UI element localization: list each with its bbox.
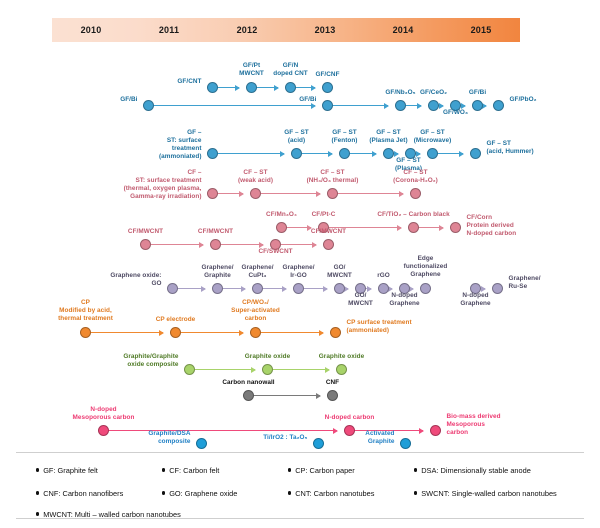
node-label: Graphite oxide [245, 353, 290, 361]
connector-arrow [190, 369, 255, 370]
node-label: GF/PtMWCNT [239, 62, 264, 78]
year-label-2015: 2015 [442, 18, 520, 42]
legend-item-label: CF: Carbon felt [169, 466, 219, 475]
legend-item-label: DSA: Dimensionally stable anode [421, 466, 531, 475]
node-label: Bio-mass derivedMesoporouscarbon [447, 413, 501, 437]
node-label: N-dopedMesoporous carbon [73, 406, 135, 422]
legend-item-cnt: CNT: Carbon nanotubes [288, 489, 374, 498]
timeline-figure: 2010 2011 2012 2013 2014 2015 GF/CNTGF/P… [0, 0, 600, 528]
timeline-node[interactable] [210, 239, 221, 250]
node-label: Carbon nanowall [222, 379, 274, 387]
connector-arrow [328, 105, 388, 106]
timeline-node[interactable] [327, 390, 338, 401]
connector-arrow [86, 332, 163, 333]
node-label: CF/MWCNT [198, 228, 233, 236]
node-label: GF – ST(Plasma Jet) [369, 129, 407, 145]
timeline-node[interactable] [184, 364, 195, 375]
timeline-node[interactable] [400, 438, 411, 449]
node-label: GF/WO₃ [443, 109, 468, 117]
node-label: GF – ST(acid, Hummer) [487, 140, 534, 156]
timeline-node[interactable] [167, 283, 178, 294]
timeline-node[interactable] [246, 82, 257, 93]
node-label: GF –ST: surfacetreatment(ammoniated) [159, 129, 202, 161]
node-label: CF – ST(weak acid) [238, 169, 273, 185]
legend-item-label: CNF: Carbon nanofibers [43, 489, 123, 498]
timeline-node[interactable] [80, 327, 91, 338]
timeline-node[interactable] [285, 82, 296, 93]
node-label: Graphene oxide:GO [110, 272, 161, 288]
timeline-node[interactable] [383, 148, 394, 159]
bullet-icon [414, 468, 417, 471]
node-label: CP surface treatment(ammoniated) [347, 319, 412, 335]
node-label: GF/PbO₂ [510, 96, 537, 104]
node-label: Graphene/Ru-Se [509, 275, 541, 291]
node-label: rGO [377, 272, 390, 280]
node-label: GF – ST(Fenton) [332, 129, 358, 145]
timeline-node[interactable] [334, 283, 345, 294]
connector-arrow [213, 153, 284, 154]
connector-arrow [333, 193, 403, 194]
connector-arrow [249, 395, 320, 396]
node-label: GF/Bi [469, 89, 486, 97]
bullet-icon [162, 491, 165, 494]
timeline-node[interactable] [344, 425, 355, 436]
bullet-icon [162, 468, 165, 471]
timeline-node[interactable] [322, 100, 333, 111]
node-label: CF/TiO₂ – Carbon black [377, 211, 449, 219]
timeline-node[interactable] [250, 188, 261, 199]
node-label: CPModified by acid,thermal treatment [58, 299, 113, 323]
timeline-node[interactable] [430, 425, 441, 436]
node-label: GF/Bi [299, 96, 316, 104]
node-label: Graphene/Ir-GO [282, 264, 314, 280]
timeline-node[interactable] [243, 390, 254, 401]
bullet-icon [288, 468, 291, 471]
node-label: CF/MWCNT [128, 228, 163, 236]
timeline-node[interactable] [428, 100, 439, 111]
legend-item-cp: CP: Carbon paper [288, 466, 355, 475]
connector-arrow [256, 332, 323, 333]
node-label: Graphene/CuPt₃ [241, 264, 273, 280]
node-label: GF – ST(Microwave) [414, 129, 451, 145]
timeline-node[interactable] [207, 82, 218, 93]
timeline-node[interactable] [492, 283, 503, 294]
legend-item-go: GO: Graphene oxide [162, 489, 237, 498]
connector-arrow [216, 244, 263, 245]
timeline-node[interactable] [336, 364, 347, 375]
node-label: N-dopedGraphene [460, 292, 490, 308]
year-label-2013: 2013 [286, 18, 364, 42]
legend-item-dsa: DSA: Dimensionally stable anode [414, 466, 531, 475]
timeline-node[interactable] [395, 100, 406, 111]
node-label: EdgefunctionalizedGraphene [404, 255, 448, 279]
node-label: Graphene/Graphite [201, 264, 233, 280]
timeline-node[interactable] [493, 100, 504, 111]
node-label: CF/MWCNT [311, 228, 346, 236]
node-label: GF/CNF [315, 71, 339, 79]
timeline-node[interactable] [276, 222, 287, 233]
legend-item-label: CNT: Carbon nanotubes [295, 489, 374, 498]
timeline-node[interactable] [339, 148, 350, 159]
node-label: Graphite/Graphiteoxide composite [123, 353, 178, 369]
connector-arrow [268, 369, 329, 370]
node-label: Graphite/DSAcomposite [148, 430, 190, 446]
node-label: CF/Pt-C [312, 211, 336, 219]
node-label: GO/MWCNT [327, 264, 352, 280]
year-label-2014: 2014 [364, 18, 442, 42]
connector-arrow [297, 153, 332, 154]
legend-item-label: GF: Graphite felt [43, 466, 98, 475]
connector-arrow [276, 244, 316, 245]
legend-top-divider [16, 452, 584, 453]
node-label: GF/CNT [177, 78, 201, 86]
timeline-node[interactable] [472, 100, 483, 111]
timeline-node[interactable] [313, 438, 324, 449]
node-label: GO/MWCNT [348, 292, 373, 308]
node-label: GF/CeO₂ [420, 89, 447, 97]
node-label: N-dopedGraphene [389, 292, 419, 308]
legend-item-label: SWCNT: Single-walled carbon nanotubes [421, 489, 557, 498]
node-label: Graphite oxide [319, 353, 364, 361]
bullet-icon [36, 491, 39, 494]
node-label: GF – ST(acid) [284, 129, 309, 145]
timeline-node[interactable] [470, 148, 481, 159]
node-label: CF/CornProtein derivedN-doped carbon [467, 214, 517, 238]
timeline-node[interactable] [98, 425, 109, 436]
node-label: GF/Bi [120, 96, 137, 104]
timeline-node[interactable] [170, 327, 181, 338]
legend-item-label: CP: Carbon paper [295, 466, 355, 475]
timeline-node[interactable] [378, 283, 389, 294]
node-label: ActivatedGraphite [365, 430, 394, 446]
year-label-2010: 2010 [52, 18, 130, 42]
timeline-node[interactable] [262, 364, 273, 375]
node-label: CP electrode [156, 316, 196, 324]
timeline-node[interactable] [291, 148, 302, 159]
timeline-node[interactable] [293, 283, 304, 294]
connector-arrow [256, 193, 320, 194]
timeline-node[interactable] [196, 438, 207, 449]
bullet-icon [36, 512, 39, 515]
connector-arrow [146, 244, 203, 245]
legend-item-label: GO: Graphene oxide [169, 489, 237, 498]
node-label: CNF [326, 379, 339, 387]
legend-item-swcnt: SWCNT: Single-walled carbon nanotubes [414, 489, 557, 498]
node-label: CF/SWCNT [258, 248, 292, 256]
timeline-node[interactable] [322, 82, 333, 93]
timeline-node[interactable] [207, 148, 218, 159]
node-label: N-doped carbon [325, 414, 375, 422]
node-label: Ti/IrO2 : Ta₂O₅ [263, 434, 307, 442]
year-label-2011: 2011 [130, 18, 208, 42]
connector-arrow [104, 430, 337, 431]
timeline-node[interactable] [207, 188, 218, 199]
node-label: CP/WO₃/Super-activatedcarbon [231, 299, 280, 323]
legend-item-gf: GF: Graphite felt [36, 466, 98, 475]
legend-bottom-divider [16, 518, 584, 519]
node-label: CF/Mn₃O₄ [266, 211, 297, 219]
year-label-2012: 2012 [208, 18, 286, 42]
connector-arrow [176, 332, 243, 333]
node-label: GF/Ndoped CNT [273, 62, 308, 78]
timeline-node[interactable] [450, 222, 461, 233]
legend-item-cnf: CNF: Carbon nanofibers [36, 489, 123, 498]
bullet-icon [288, 491, 291, 494]
timeline-node[interactable] [323, 239, 334, 250]
timeline-node[interactable] [427, 148, 438, 159]
timeline-node[interactable] [140, 239, 151, 250]
timeline-node[interactable] [330, 327, 341, 338]
node-label: GF/Nb₂O₅ [385, 89, 415, 97]
timeline-node[interactable] [250, 327, 261, 338]
timeline-node[interactable] [143, 100, 154, 111]
timeline-node[interactable] [327, 188, 338, 199]
timeline-node[interactable] [420, 283, 431, 294]
node-label: CF – ST(NH₃/O₃ thermal) [307, 169, 359, 185]
bullet-icon [414, 491, 417, 494]
timeline-node[interactable] [410, 188, 421, 199]
node-label: CF –ST: surface treatment(thermal, oxyge… [124, 169, 202, 201]
timeline-node[interactable] [252, 283, 263, 294]
timeline-node[interactable] [212, 283, 223, 294]
legend-item-cf: CF: Carbon felt [162, 466, 219, 475]
timeline-node[interactable] [408, 222, 419, 233]
connector-arrow [149, 105, 315, 106]
bullet-icon [36, 468, 39, 471]
node-label: CF – ST(Corona-H₂O₂) [393, 169, 438, 185]
